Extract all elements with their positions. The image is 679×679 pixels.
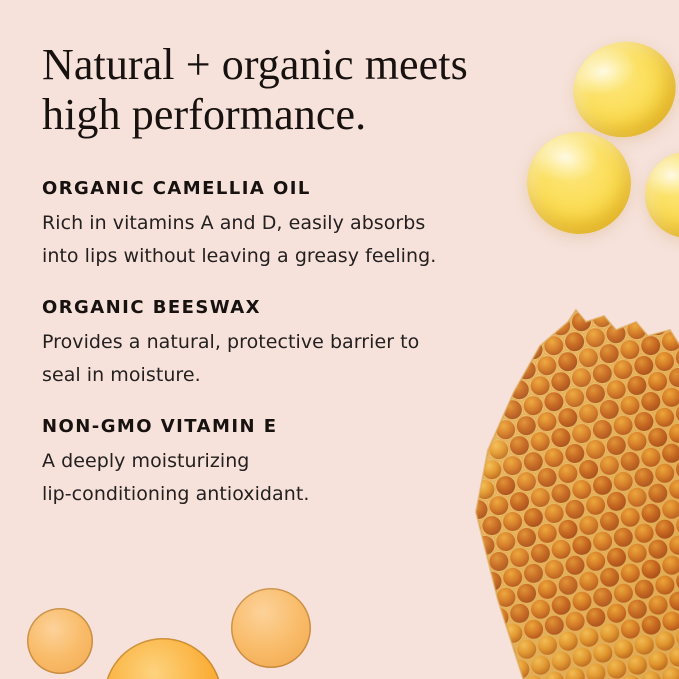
benefit-item: ORGANIC BEESWAX Provides a natural, prot… [42,295,522,392]
oil-capsule-right [642,149,679,241]
benefit-description: A deeply moisturizing lip-conditioning a… [42,445,522,511]
ingredient-benefits-infographic: Natural + organic meets high performance… [0,0,679,679]
text-content: Natural + organic meets high performance… [42,0,542,679]
benefit-list: ORGANIC CAMELLIA OIL Rich in vitamins A … [42,176,522,511]
benefit-description: Provides a natural, protective barrier t… [42,326,522,392]
benefit-description: Rich in vitamins A and D, easily absorbs… [42,207,522,273]
benefit-item: NON-GMO VITAMIN E A deeply moisturizing … [42,414,522,511]
page-title: Natural + organic meets high performance… [42,40,512,140]
oil-capsule-top [563,31,679,148]
benefit-title: ORGANIC CAMELLIA OIL [42,176,522,202]
benefit-title: NON-GMO VITAMIN E [42,414,522,440]
benefit-title: ORGANIC BEESWAX [42,295,522,321]
benefit-item: ORGANIC CAMELLIA OIL Rich in vitamins A … [42,176,522,273]
